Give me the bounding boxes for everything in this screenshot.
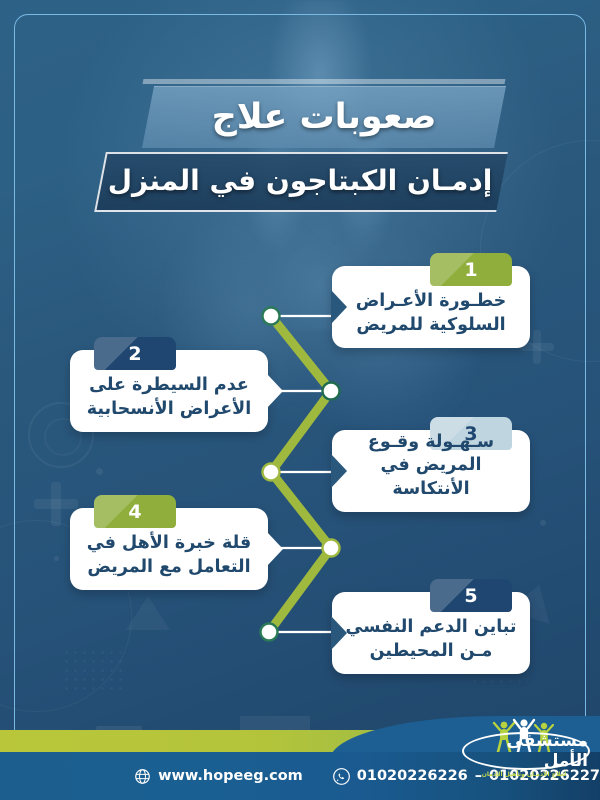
globe-icon — [134, 768, 151, 785]
website-url: www.hopeeg.com — [158, 768, 303, 784]
list-item[interactable]: 3 سـهـولة وقـوعالمريض في الأنتكاسة — [332, 430, 530, 512]
badge-number: 3 — [464, 423, 477, 445]
footer-website[interactable]: www.hopeeg.com — [134, 768, 303, 785]
hospital-logo[interactable]: مستشفى الأمل لعلاج الادمـان وتأهيل الإدم… — [460, 712, 588, 774]
status-badge: 5 — [430, 579, 512, 612]
decorative-triangle-1 — [126, 596, 170, 630]
list-item[interactable]: 5 تباين الدعم النفسيمـن المحيطين — [332, 592, 530, 674]
list-item[interactable]: 1 خطـورة الأعـراضالسلوكية للمريض — [332, 266, 530, 348]
status-badge: 4 — [94, 495, 176, 528]
logo-oval-frame: مستشفى الأمل — [462, 732, 590, 770]
list-item[interactable]: 2 عدم السيطرة علىالأعراض الأنسحابية — [70, 350, 268, 432]
badge-number: 2 — [128, 343, 141, 365]
infographic-poster: صعوبات علاج إدمـان الكبتاجون في المنزل 1… — [0, 0, 600, 800]
badge-number: 4 — [128, 501, 141, 523]
decorative-dot-3 — [540, 520, 546, 526]
page-title-line1: صعوبات علاج — [148, 86, 500, 148]
status-badge: 2 — [94, 337, 176, 370]
title-top-rule — [143, 79, 506, 84]
list-item-label: قلة خبرة الأهل فيالتعامل مع المريض — [70, 532, 268, 579]
whatsapp-icon — [333, 768, 350, 785]
phone-number-1: 01020226226 — [357, 768, 468, 784]
status-badge: 1 — [430, 253, 512, 286]
list-item-label: تباين الدعم النفسيمـن المحيطين — [332, 616, 530, 663]
badge-number: 1 — [464, 259, 477, 281]
logo-name: مستشفى الأمل — [464, 731, 588, 771]
badge-number: 5 — [464, 585, 477, 607]
list-item-label: خطـورة الأعـراضالسلوكية للمريض — [332, 290, 530, 337]
title-block: صعوبات علاج إدمـان الكبتاجون في المنزل — [0, 86, 600, 216]
list-item[interactable]: 4 قلة خبرة الأهل فيالتعامل مع المريض — [70, 508, 268, 590]
decorative-dot-2 — [54, 556, 59, 561]
decorative-dot-1 — [96, 468, 103, 475]
logo-tagline: لعلاج الادمـان وتأهيل الإدمان — [460, 771, 588, 778]
page-title-line2: إدمـان الكبتاجون في المنزل — [100, 152, 500, 208]
list-item-label: عدم السيطرة علىالأعراض الأنسحابية — [70, 374, 268, 421]
decorative-dot-grid-1 — [62, 648, 126, 690]
list-item-label: سـهـولة وقـوعالمريض في الأنتكاسة — [332, 431, 530, 501]
